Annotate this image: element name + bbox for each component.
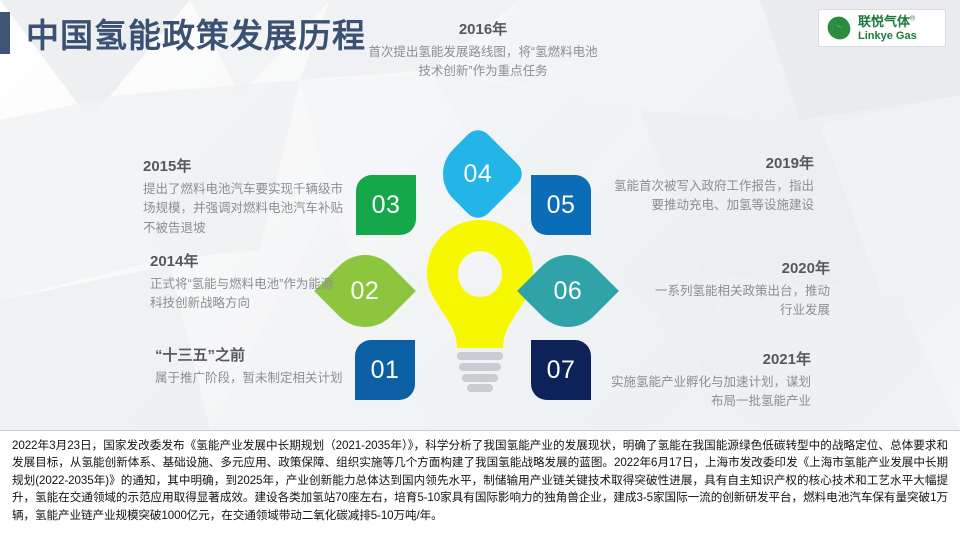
- step-badge-07-label: 07: [547, 356, 576, 385]
- step-badge-03-label: 03: [372, 191, 401, 220]
- milestone-2020-desc: 一系列氢能相关政策出台，推动行业发展: [650, 282, 830, 321]
- lightbulb-icon: [424, 218, 536, 393]
- footer-paragraph: 2022年3月23日，国家发改委发布《氢能产业发展中长期规划（2021-2035…: [12, 437, 948, 524]
- milestone-2016-year: 2016年: [368, 18, 598, 39]
- step-badge-04[interactable]: 04: [429, 125, 528, 224]
- step-badge-06-label: 06: [554, 277, 583, 306]
- milestone-2020: 2020年 一系列氢能相关政策出台，推动行业发展: [650, 257, 830, 321]
- step-badge-03[interactable]: 03: [356, 175, 416, 235]
- milestone-2016: 2016年 首次提出氢能发展路线图，将“氢燃料电池技术创新”作为重点任务: [368, 18, 598, 82]
- step-badge-07[interactable]: 07: [531, 340, 591, 400]
- page-title: 中国氢能政策发展历程: [26, 9, 366, 57]
- logo-name-cn: 联悦气体: [858, 14, 910, 29]
- title-accent-bar: [0, 12, 10, 54]
- milestone-2015-year: 2015年: [143, 155, 343, 176]
- milestone-2020-year: 2020年: [650, 257, 830, 278]
- milestone-2014-desc: 正式将“氢能与燃料电池”作为能源科技创新战略方向: [150, 275, 342, 314]
- milestone-pre-13th-desc: 属于推广阶段，暂未制定相关计划: [155, 369, 343, 388]
- step-badge-05-label: 05: [547, 191, 576, 220]
- brand-logo: 联悦气体® Linkye Gas: [818, 9, 946, 47]
- step-badge-01[interactable]: 01: [355, 340, 415, 400]
- step-badge-05[interactable]: 05: [531, 175, 591, 235]
- slide-canvas: 中国氢能政策发展历程 联悦气体® Linkye Gas: [0, 0, 960, 540]
- milestone-2021: 2021年 实施氢能产业孵化与加速计划，谋划布局一批氢能产业: [606, 348, 811, 412]
- registered-trademark-icon: ®: [910, 16, 915, 23]
- milestone-2019: 2019年 氢能首次被写入政府工作报告，指出要推动充电、加氢等设施建设: [606, 152, 814, 216]
- step-badge-02-label: 02: [351, 277, 380, 306]
- step-badge-01-label: 01: [371, 356, 400, 385]
- milestone-2014-year: 2014年: [150, 250, 342, 271]
- milestone-pre-13th-five-year-plan: “十三五”之前 属于推广阶段，暂未制定相关计划: [155, 344, 343, 388]
- milestone-2015-desc: 提出了燃料电池汽车要实现千辆级市场规模，并强调对燃料电池汽车补贴不被告退坡: [143, 180, 343, 238]
- milestone-2019-year: 2019年: [606, 152, 814, 173]
- milestone-2019-desc: 氢能首次被写入政府工作报告，指出要推动充电、加氢等设施建设: [606, 177, 814, 216]
- milestone-2016-desc: 首次提出氢能发展路线图，将“氢燃料电池技术创新”作为重点任务: [368, 43, 598, 82]
- green-leaf-icon: [825, 14, 853, 42]
- milestone-2015: 2015年 提出了燃料电池汽车要实现千辆级市场规模，并强调对燃料电池汽车补贴不被…: [143, 155, 343, 238]
- milestone-2021-desc: 实施氢能产业孵化与加速计划，谋划布局一批氢能产业: [606, 373, 811, 412]
- logo-name-en: Linkye Gas: [858, 31, 917, 43]
- step-badge-04-label: 04: [464, 160, 493, 189]
- milestone-2021-year: 2021年: [606, 348, 811, 369]
- footer-note: 2022年3月23日，国家发改委发布《氢能产业发展中长期规划（2021-2035…: [0, 430, 960, 540]
- milestone-pre-13th-year: “十三五”之前: [155, 344, 343, 365]
- milestone-2014: 2014年 正式将“氢能与燃料电池”作为能源科技创新战略方向: [150, 250, 342, 314]
